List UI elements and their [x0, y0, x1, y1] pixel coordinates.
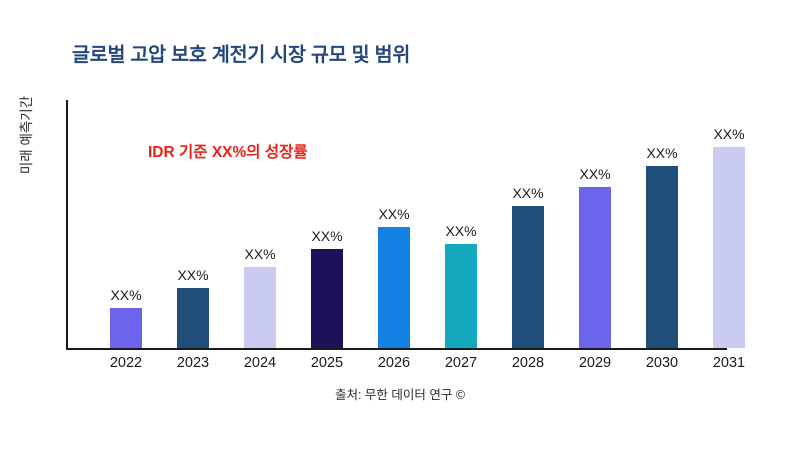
x-tick-2025: 2025: [297, 355, 357, 371]
bar-value-label-2030: XX%: [632, 145, 692, 161]
source-note: 출처: 무한 데이터 연구 ©: [0, 384, 800, 403]
bar-2025[interactable]: [311, 249, 343, 348]
bar-value-label-2026: XX%: [364, 206, 424, 222]
x-tick-2026: 2026: [364, 355, 424, 371]
bar-value-label-2029: XX%: [565, 166, 625, 182]
x-tick-2028: 2028: [498, 355, 558, 371]
x-axis-line: [66, 348, 727, 350]
bar-value-label-2028: XX%: [498, 185, 558, 201]
bar-2031[interactable]: [713, 147, 745, 348]
bar-value-label-2025: XX%: [297, 228, 357, 244]
bar-value-label-2027: XX%: [431, 223, 491, 239]
bar-2028[interactable]: [512, 206, 544, 348]
bar-value-label-2031: XX%: [699, 126, 759, 142]
bar-2030[interactable]: [646, 166, 678, 348]
bar-2029[interactable]: [579, 187, 611, 348]
bar-value-label-2023: XX%: [163, 267, 223, 283]
x-tick-2030: 2030: [632, 355, 692, 371]
chart-container: 글로벌 고압 보호 계전기 시장 규모 및 범위 미래 예측기간 IDR 기준 …: [0, 0, 800, 450]
bar-2022[interactable]: [110, 308, 142, 348]
bar-value-label-2022: XX%: [96, 287, 156, 303]
plot-area: XX%XX%XX%XX%XX%XX%XX%XX%XX%XX% 202220232…: [0, 0, 800, 450]
y-axis-line: [66, 100, 68, 349]
x-tick-2024: 2024: [230, 355, 290, 371]
bar-2024[interactable]: [244, 267, 276, 348]
x-tick-2027: 2027: [431, 355, 491, 371]
x-tick-2023: 2023: [163, 355, 223, 371]
x-tick-2031: 2031: [699, 355, 759, 371]
x-tick-2022: 2022: [96, 355, 156, 371]
bar-2027[interactable]: [445, 244, 477, 348]
bar-value-label-2024: XX%: [230, 246, 290, 262]
bar-2026[interactable]: [378, 227, 410, 348]
x-tick-2029: 2029: [565, 355, 625, 371]
bar-2023[interactable]: [177, 288, 209, 348]
